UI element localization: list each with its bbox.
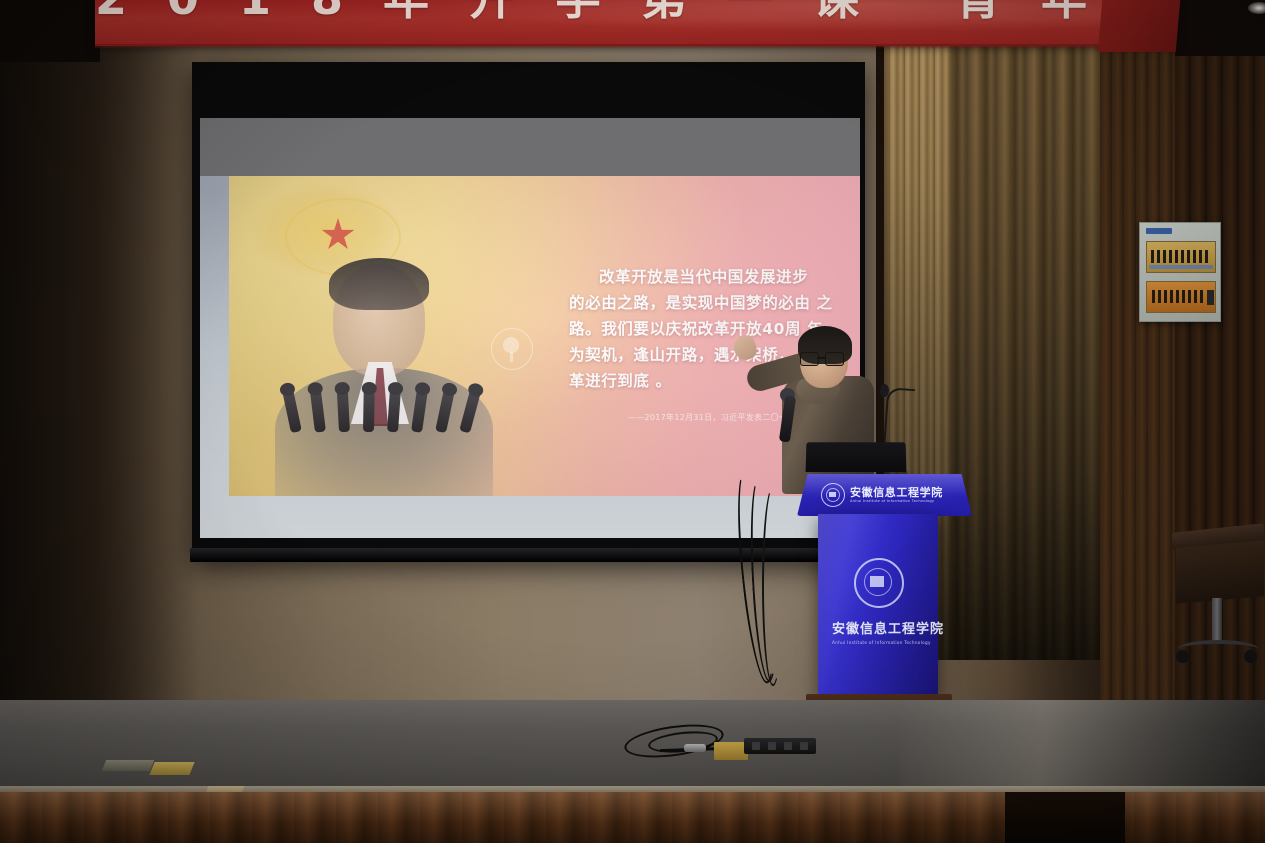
panel-label-sticker: [1146, 228, 1172, 234]
circuit-breaker-panel[interactable]: [1139, 222, 1221, 322]
floor-plate: [102, 760, 154, 771]
banner-text: 2018年开学第一课 青年 担当 话成长: [95, 0, 1175, 8]
glasses-icon: [800, 352, 842, 364]
chair-wheel: [1244, 650, 1257, 663]
stage-front-gap: [1005, 792, 1125, 843]
cable-connector: [684, 744, 706, 752]
hanging-cable: [762, 486, 784, 686]
podium-institution-en: Anhui Institute of Information Technolog…: [850, 500, 943, 504]
university-seal-icon: [821, 483, 845, 507]
auditorium-photo: 2018年开学第一课 青年 担当 话成长: [0, 0, 1265, 843]
power-strip[interactable]: [744, 738, 816, 754]
podium-institution-cn: 安徽信息工程学院: [850, 487, 943, 498]
ceiling-shadow-left: [0, 0, 100, 62]
podium-front-institution-en: Anhui Institute of Information Technolog…: [832, 640, 926, 645]
wood-column-right: [1100, 0, 1175, 700]
letterbox-bar: [200, 118, 860, 176]
banner-fold-right: [1098, 0, 1181, 52]
red-banner: 2018年开学第一课 青年 担当 话成长: [95, 0, 1175, 46]
floor-shadow-right: [1040, 700, 1265, 792]
breaker-row-upper: [1146, 241, 1216, 273]
brass-floor-box: [714, 742, 748, 760]
banner-bottom-edge: [95, 44, 1175, 49]
podium-front-logo: 安徽信息工程学院 Anhui Institute of Information …: [832, 558, 926, 645]
wall-shadow-left: [0, 0, 200, 700]
ceiling-light-glare: [1248, 2, 1265, 14]
chair-back: [1176, 540, 1264, 604]
chair-post: [1212, 598, 1222, 644]
podium-top-panel: 安徽信息工程学院 Anhui Institute of Information …: [797, 474, 972, 516]
podium-front-institution-cn: 安徽信息工程学院: [832, 618, 926, 637]
podium-body: 安徽信息工程学院 Anhui Institute of Information …: [818, 514, 938, 696]
laptop[interactable]: [806, 442, 907, 472]
podium-top-logo: 安徽信息工程学院 Anhui Institute of Information …: [821, 482, 951, 508]
chair-wheel: [1176, 650, 1189, 663]
breaker-row-lower: [1146, 281, 1216, 313]
office-chair: [1172, 528, 1264, 680]
brass-floor-plate: [149, 762, 194, 775]
university-seal-icon-large: [854, 558, 904, 608]
